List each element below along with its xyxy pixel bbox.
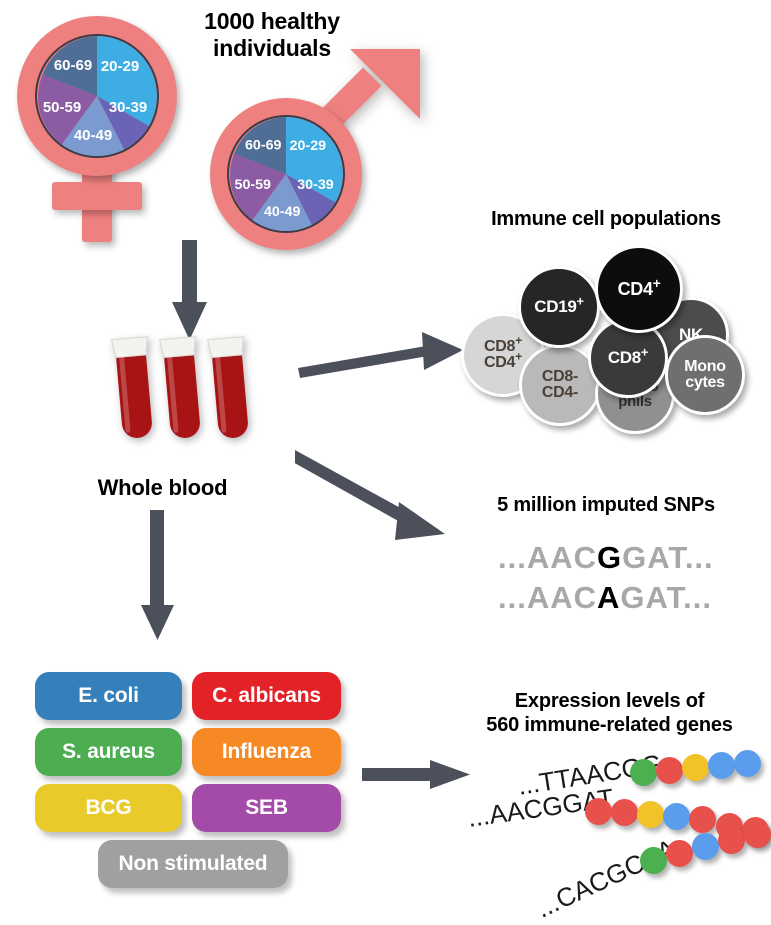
female-pie-svg: 20-29 30-39 40-49 50-59 60-69 — [37, 36, 157, 156]
arrow-shape — [141, 510, 174, 640]
dna-bead — [663, 803, 690, 830]
blood-tube-2 — [160, 337, 205, 440]
arrow-shape — [298, 332, 463, 378]
dna-bead — [585, 798, 612, 825]
male-pie-svg: 20-29 30-39 40-49 50-59 60-69 — [229, 117, 343, 231]
dna-bead — [666, 840, 693, 867]
stimulus-c-albicans[interactable]: C. albicans — [192, 672, 341, 720]
dna-bead — [708, 752, 735, 779]
snp-suffix: GAT... — [622, 540, 714, 575]
female-symbol-crossbar — [52, 182, 142, 210]
female-age-pie-chart: 20-29 30-39 40-49 50-59 60-69 — [35, 34, 159, 158]
expression-heading: Expression levels of 560 immune-related … — [452, 690, 767, 737]
snp-suffix: GAT... — [620, 580, 712, 615]
stimulus-s-aureus[interactable]: S. aureus — [35, 728, 182, 776]
blood-tube-1 — [112, 337, 157, 440]
blood-tubes-svg — [105, 330, 285, 460]
stimulus-influenza[interactable]: Influenza — [192, 728, 341, 776]
whole-blood-tubes — [105, 330, 285, 460]
immune-cell-label: CD19+ — [534, 298, 584, 316]
dna-bead — [637, 801, 664, 828]
immune-cell-monocytes: Monocytes — [665, 335, 745, 415]
arrow-blood-to-snps — [295, 440, 470, 560]
dna-bead — [656, 757, 683, 784]
dna-bead — [718, 827, 745, 854]
dna-bead — [682, 754, 709, 781]
dna-strand-3-sequence: ...CACGCAA — [531, 833, 680, 925]
male-pie-label-20-29: 20-29 — [290, 138, 327, 154]
male-pie-label-50-59: 50-59 — [235, 177, 272, 193]
blood-tube-3 — [208, 337, 253, 440]
immune-cell-cd4p: CD4+ — [595, 245, 683, 333]
stimulus-seb[interactable]: SEB — [192, 784, 341, 832]
whole-blood-label: Whole blood — [70, 475, 255, 501]
dna-bead — [734, 750, 761, 777]
immune-cell-label: CD4+ — [618, 280, 661, 299]
arrow-blood-to-immune — [298, 330, 473, 390]
pie-label-50-59: 50-59 — [43, 99, 81, 116]
cohort-heading-line1: 1000 healthy — [172, 8, 372, 35]
pie-label-30-39: 30-39 — [109, 99, 147, 116]
expression-heading-line1: Expression levels of — [452, 690, 767, 714]
pie-label-40-49: 40-49 — [74, 127, 112, 144]
pie-label-20-29: 20-29 — [101, 58, 139, 75]
male-gender-symbol: 20-29 30-39 40-49 50-59 60-69 — [198, 45, 428, 255]
immune-cell-label: CD8+ — [608, 349, 648, 367]
immune-cell-cd19p: CD19+ — [518, 266, 600, 348]
dna-bead — [692, 833, 719, 860]
snps-heading: 5 million imputed SNPs — [446, 494, 766, 518]
immune-cell-cluster: CD8+CD4+ CD19+ CD4+ CD8+ NK CD8-CD4- Neu… — [455, 240, 765, 420]
dna-bead — [744, 821, 771, 848]
arrow-shape — [295, 450, 445, 540]
pie-label-60-69: 60-69 — [54, 57, 92, 74]
arrow-blood-to-stimuli — [128, 510, 188, 645]
snp-variant-base: A — [597, 580, 620, 615]
arrow-shape — [172, 240, 207, 340]
male-pie-label-60-69: 60-69 — [245, 137, 282, 153]
expression-strands: ...TTAACGG ...AACGGAT ...CACGCAA — [440, 745, 771, 915]
dna-bead — [640, 847, 667, 874]
stimulus-non-stimulated[interactable]: Non stimulated — [98, 840, 288, 888]
male-pie-label-40-49: 40-49 — [264, 204, 301, 220]
dna-bead — [630, 759, 657, 786]
immune-heading: Immune cell populations — [446, 208, 766, 232]
stimulus-bcg[interactable]: BCG — [35, 784, 182, 832]
snp-allele-2: ...AACAGAT... — [498, 580, 712, 616]
dna-bead — [611, 799, 638, 826]
snp-prefix: ...AAC — [498, 540, 597, 575]
male-age-pie-chart: 20-29 30-39 40-49 50-59 60-69 — [227, 115, 345, 233]
immune-cell-label: Monocytes — [684, 359, 725, 392]
stimulus-e-coli[interactable]: E. coli — [35, 672, 182, 720]
male-pie-label-30-39: 30-39 — [297, 177, 334, 193]
snp-prefix: ...AAC — [498, 580, 597, 615]
expression-heading-line2: 560 immune-related genes — [452, 714, 767, 738]
snp-variant-base: G — [597, 540, 622, 575]
snp-allele-1: ...AACGGAT... — [498, 540, 714, 576]
stimuli-panel: E. coli C. albicans S. aureus Influenza … — [35, 672, 345, 902]
female-gender-symbol: 20-29 30-39 40-49 50-59 60-69 — [8, 10, 193, 240]
dna-bead — [689, 806, 716, 833]
immune-cell-label: CD8+CD4+ — [484, 339, 522, 372]
immune-cell-label: CD8-CD4- — [542, 369, 578, 402]
figure-canvas: 1000 healthy individuals 20-29 30-39 40-… — [0, 0, 771, 922]
